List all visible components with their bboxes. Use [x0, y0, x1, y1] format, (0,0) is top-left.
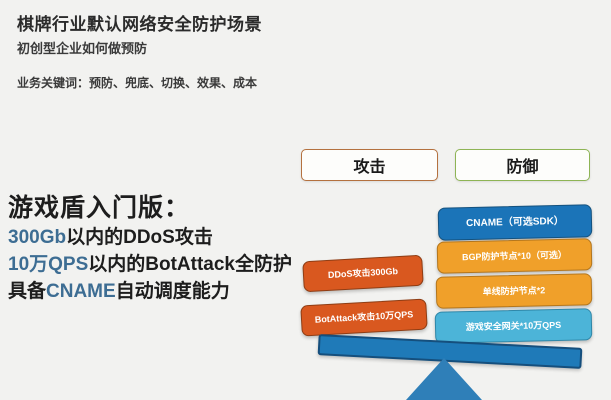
balance-fulcrum-icon — [406, 358, 482, 400]
attack-card-ddos: DDoS攻击300Gb — [302, 255, 424, 293]
product-summary-heading: 游戏盾入门版： — [8, 192, 298, 224]
defense-card-bgp-node: BGP防护节点*10（可选） — [437, 238, 593, 274]
qps-capacity-text: 以内的BotAttack全防护 — [88, 254, 292, 275]
attack-column-header: 攻击 — [301, 149, 438, 181]
qps-capacity-value: 10万QPS — [8, 254, 88, 275]
page-title: 棋牌行业默认网络安全防护场景 — [17, 10, 262, 35]
business-keywords: 业务关键词：预防、兜底、切换、效果、成本 — [17, 74, 257, 91]
defense-card-cname: CNAME（可选SDK） — [438, 204, 593, 240]
defense-column-header: 防御 — [455, 149, 590, 181]
attack-card-botattack: BotAttack攻击10万QPS — [300, 299, 428, 337]
product-summary-line-cname: 具备CNAME自动调度能力 — [8, 278, 298, 305]
cname-prefix-text: 具备 — [8, 281, 46, 302]
defense-card-single-line-node: 单线防护节点*2 — [436, 273, 593, 309]
product-summary: 游戏盾入门版： 300Gb以内的DDoS攻击 10万QPS以内的BotAttac… — [8, 192, 298, 305]
page-subtitle: 初创型企业如何做预防 — [17, 38, 147, 57]
product-summary-line-qps: 10万QPS以内的BotAttack全防护 — [8, 251, 298, 278]
ddos-capacity-value: 300Gb — [8, 227, 66, 248]
defense-card-game-gateway: 游戏安全网关*10万QPS — [435, 308, 593, 344]
cname-suffix-text: 自动调度能力 — [116, 281, 230, 302]
ddos-capacity-text: 以内的DDoS攻击 — [66, 227, 213, 248]
product-summary-line-ddos: 300Gb以内的DDoS攻击 — [8, 224, 298, 251]
slide-canvas: 棋牌行业默认网络安全防护场景 初创型企业如何做预防 业务关键词：预防、兜底、切换… — [0, 0, 611, 400]
cname-keyword: CNAME — [46, 281, 116, 302]
